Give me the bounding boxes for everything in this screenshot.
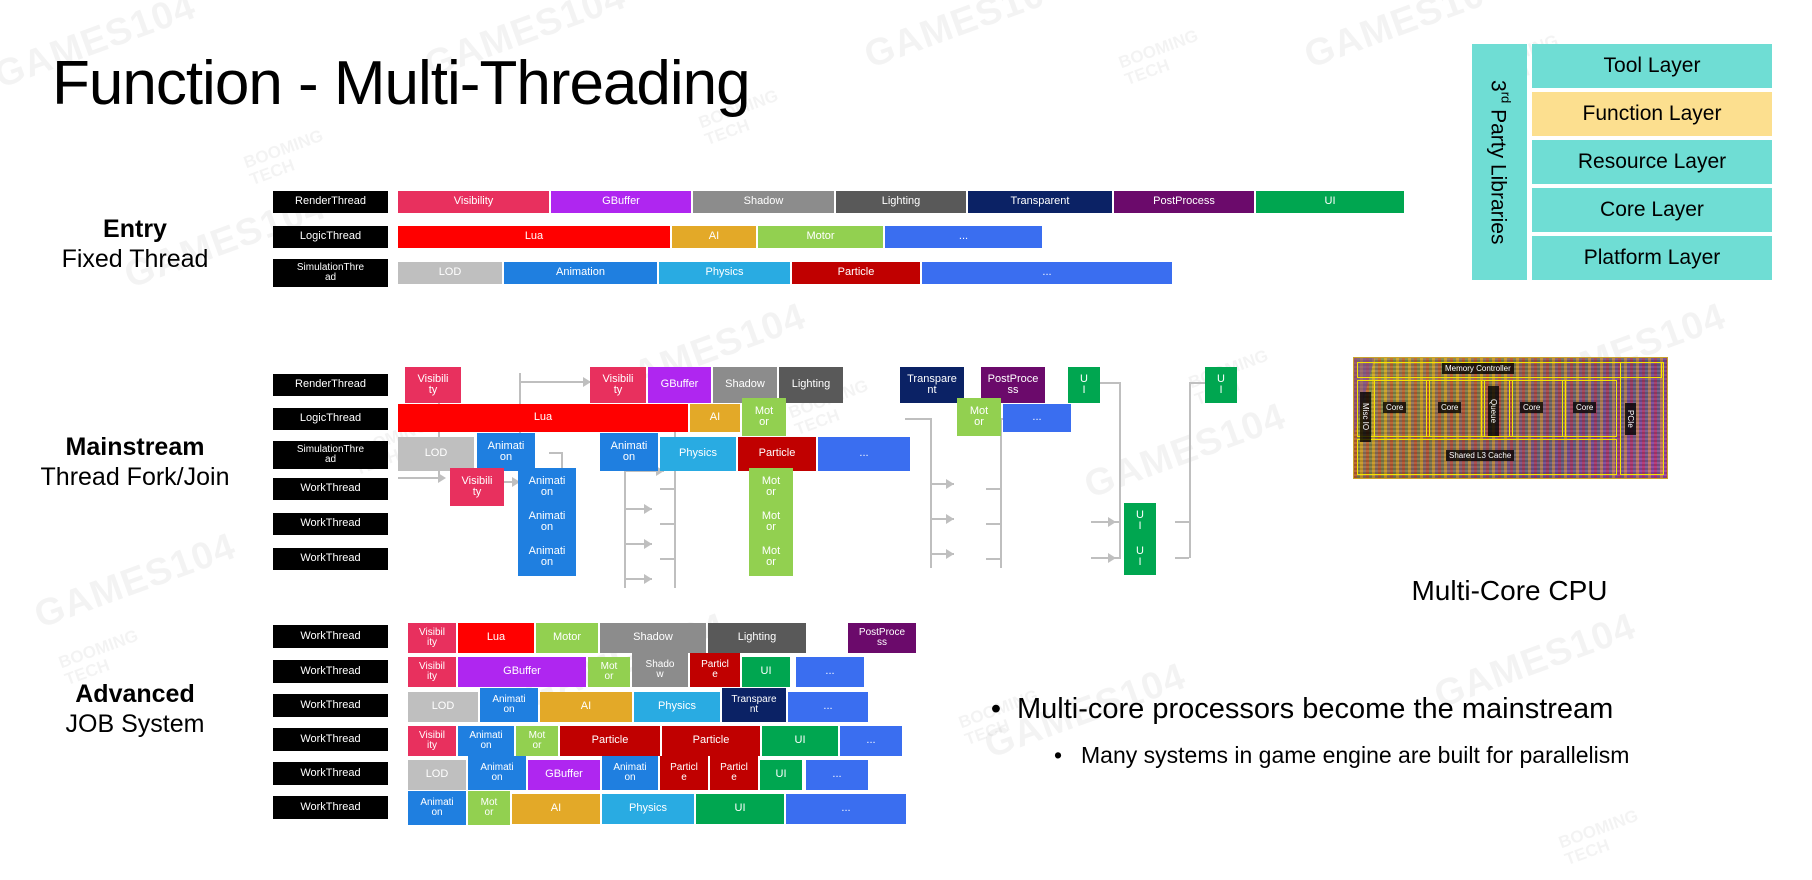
task-label-line2: ity	[427, 741, 437, 751]
task-label-line2: or	[485, 808, 494, 818]
task-ai[interactable]: AI	[512, 794, 600, 824]
task-animation[interactable]: Animati on	[480, 688, 538, 722]
bullet-list: • Multi-core processors become the mains…	[975, 693, 1795, 769]
die-label-core-3: Core	[1520, 402, 1543, 413]
task-visibility[interactable]: Visibil ity	[408, 726, 456, 756]
thread-label-work-6: WorkThread	[273, 796, 388, 819]
task-label-line2: on	[503, 705, 514, 715]
task-particle[interactable]: Particle	[662, 726, 760, 756]
task-lighting[interactable]: Lighting	[708, 623, 806, 653]
task-animation[interactable]: Animati on	[602, 756, 658, 790]
task-label-line2: ity	[427, 638, 437, 648]
task-motor[interactable]: Mot or	[468, 791, 510, 825]
task-ui[interactable]: UI	[760, 760, 802, 790]
task-label-line2: ss	[877, 638, 887, 648]
task-label-line2: on	[480, 741, 491, 751]
die-label-memory-controller: Memory Controller	[1442, 363, 1514, 374]
bullet-level1: • Multi-core processors become the mains…	[975, 693, 1795, 726]
die-label-core-4: Core	[1573, 402, 1596, 413]
cpu-die-photo: Memory Controller Misc IO Core Core Queu…	[1353, 357, 1668, 479]
task-label-line2: on	[431, 808, 442, 818]
task-physics[interactable]: Physics	[602, 794, 694, 824]
task-label-line2: or	[533, 741, 542, 751]
task-particle[interactable]: Particle	[560, 726, 660, 756]
thread-label-work-1: WorkThread	[273, 625, 388, 648]
thread-label-work-4: WorkThread	[273, 728, 388, 751]
task-ui[interactable]: UI	[742, 657, 790, 687]
die-label-misc-io: Misc IO	[1360, 392, 1371, 442]
task-ellipsis[interactable]: ...	[786, 794, 906, 824]
task-particle[interactable]: Particl e	[690, 653, 740, 687]
bullet-level1-text: Multi-core processors become the mainstr…	[1017, 693, 1613, 726]
task-motor[interactable]: Motor	[536, 623, 598, 653]
slide-root: GAMES104 GAMES104 GAMES104 GAMES104 GAME…	[0, 0, 1812, 880]
task-shadow[interactable]: Shado w	[632, 653, 688, 687]
task-animation[interactable]: Animati on	[458, 726, 514, 756]
task-label-line2: ity	[427, 672, 437, 682]
task-physics[interactable]: Physics	[634, 692, 720, 722]
task-motor[interactable]: Mot or	[516, 726, 558, 756]
task-lod[interactable]: LOD	[408, 692, 478, 722]
die-label-queue: Queue	[1488, 386, 1499, 436]
die-label-core-2: Core	[1438, 402, 1461, 413]
task-label-line2: on	[491, 773, 502, 783]
thread-label-work-2: WorkThread	[273, 660, 388, 683]
thread-label-work-5: WorkThread	[273, 762, 388, 785]
task-label-line2: nt	[750, 705, 758, 715]
task-particle[interactable]: Particl e	[660, 756, 708, 790]
die-label-pcie: PCIe	[1625, 403, 1636, 435]
task-label-line2: e	[731, 773, 737, 783]
task-gbuffer[interactable]: GBuffer	[528, 760, 600, 790]
task-visibility[interactable]: Visibil ity	[408, 623, 456, 653]
task-postprocess[interactable]: PostProce ss	[848, 623, 916, 653]
task-ellipsis[interactable]: ...	[840, 726, 902, 756]
cpu-caption: Multi-Core CPU	[1353, 575, 1666, 607]
task-ai[interactable]: AI	[540, 692, 632, 722]
task-lod[interactable]: LOD	[408, 760, 466, 790]
task-ui[interactable]: UI	[696, 794, 784, 824]
task-transparent[interactable]: Transpare nt	[722, 688, 786, 722]
die-label-core-1: Core	[1383, 402, 1406, 413]
task-visibility[interactable]: Visibil ity	[408, 657, 456, 687]
bullet-marker-icon: •	[975, 693, 1017, 726]
task-label-line2: or	[605, 672, 614, 682]
task-motor[interactable]: Mot or	[588, 657, 630, 687]
task-ellipsis[interactable]: ...	[788, 692, 868, 722]
task-label-line2: on	[624, 773, 635, 783]
task-animation[interactable]: Animati on	[468, 756, 526, 790]
task-particle[interactable]: Particl e	[710, 756, 758, 790]
thread-label-work-3: WorkThread	[273, 694, 388, 717]
task-gbuffer[interactable]: GBuffer	[458, 657, 586, 687]
task-label-line2: w	[656, 670, 663, 680]
bullet-level2-text: Many systems in game engine are built fo…	[1081, 742, 1629, 769]
task-label-line2: e	[712, 670, 718, 680]
task-label-line2: e	[681, 773, 687, 783]
task-ui[interactable]: UI	[762, 726, 838, 756]
bullet-level2: • Many systems in game engine are built …	[1035, 742, 1795, 769]
task-ellipsis[interactable]: ...	[796, 657, 864, 687]
bullet-marker-icon: •	[1035, 742, 1081, 769]
task-lua[interactable]: Lua	[458, 623, 534, 653]
task-ellipsis[interactable]: ...	[806, 760, 868, 790]
task-animation[interactable]: Animati on	[408, 791, 466, 825]
task-shadow[interactable]: Shadow	[600, 623, 706, 653]
die-label-l3-cache: Shared L3 Cache	[1446, 450, 1514, 461]
